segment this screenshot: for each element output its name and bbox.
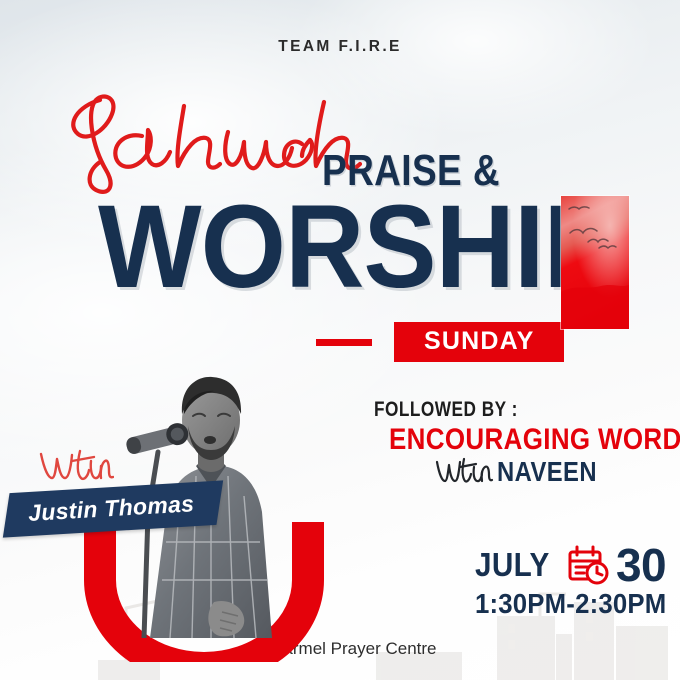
with-script-dark: [434, 455, 494, 489]
followed-by-label: FOLLOWED BY :: [374, 398, 518, 422]
red-birds-photo-panel: [561, 196, 629, 329]
red-dash-divider: [316, 339, 372, 346]
poster-canvas: TEAM F.I.R.E PRAISE & WORSHIP SUNDAY: [0, 0, 680, 680]
artist-name: Justin Thomas: [27, 490, 195, 527]
team-kicker: TEAM F.I.R.E: [0, 38, 680, 56]
with-script-red: [36, 448, 114, 486]
sunday-row: SUNDAY: [316, 322, 564, 362]
with-naveen-row: NAVEEN: [434, 455, 615, 489]
time-range: 1:30PM-2:30PM: [475, 588, 666, 620]
day-number: 30: [616, 542, 666, 588]
segment-topic: ENCOURAGING WORD: [389, 423, 680, 457]
calendar-clock-icon: [566, 544, 610, 586]
sunday-badge: SUNDAY: [394, 322, 564, 362]
headline-worship: WORSHIP: [98, 188, 616, 306]
month-label: JULY: [475, 546, 550, 584]
date-row: JULY 30: [475, 542, 666, 588]
speaker-name: NAVEEN: [497, 456, 597, 488]
